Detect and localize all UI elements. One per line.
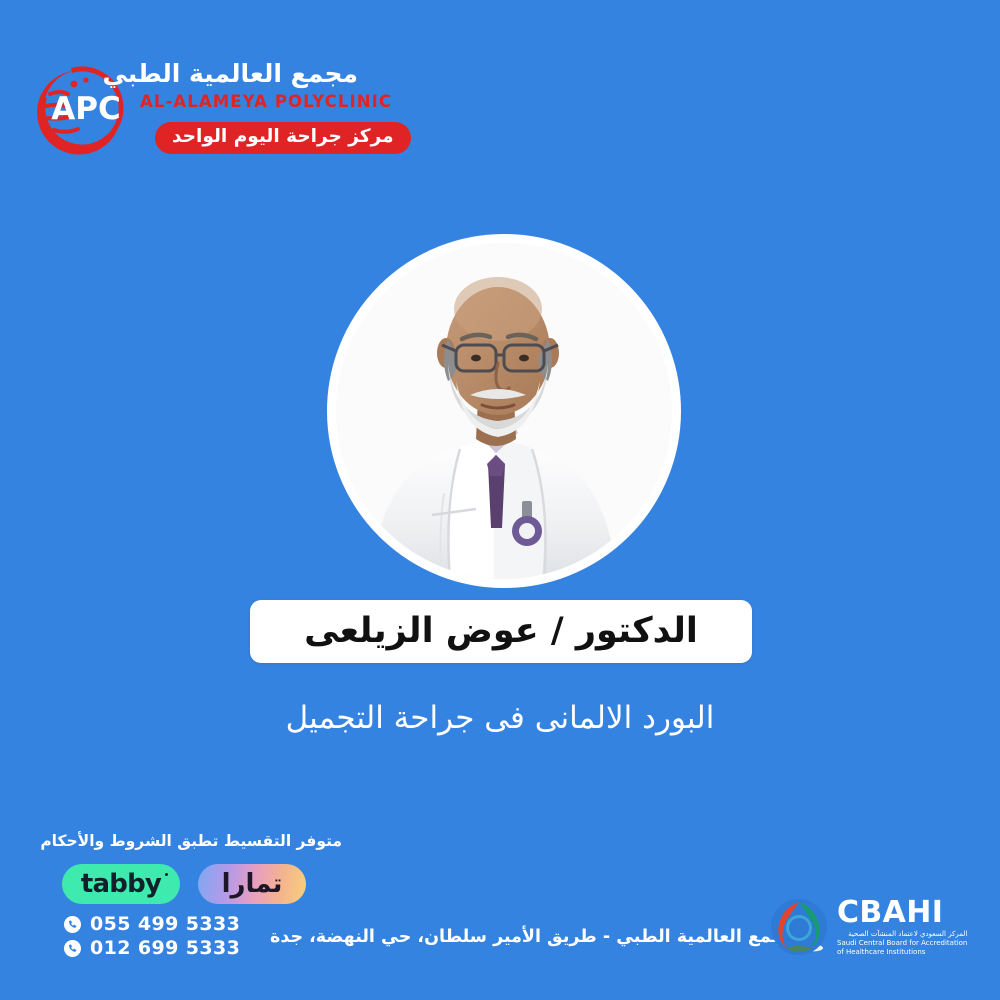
brand-text-block: مجمع العالمية الطبي AL-ALAMEYA POLYCLINI… bbox=[140, 60, 358, 112]
doctor-name-banner: الدكتور / عوض الزيلعى bbox=[250, 600, 752, 663]
tamara-label: تمارا bbox=[222, 871, 283, 897]
phone-row[interactable]: 055 499 5333 bbox=[64, 912, 240, 936]
clinic-name-arabic: مجمع العالمية الطبي bbox=[140, 60, 358, 89]
portrait-photo bbox=[336, 243, 672, 579]
tabby-logo[interactable]: tabby bbox=[62, 864, 180, 904]
phone-number: 055 499 5333 bbox=[90, 915, 240, 934]
poster-canvas: APC مجمع العالمية الطبي AL-ALAMEYA POLYC… bbox=[0, 0, 1000, 1000]
tabby-label: tabby bbox=[81, 871, 161, 897]
clinic-name-english: AL-ALAMEYA POLYCLINIC bbox=[140, 91, 358, 112]
address-block: مجمع العالمية الطبي - طريق الأمير سلطان،… bbox=[270, 924, 826, 952]
doctor-portrait bbox=[327, 234, 681, 588]
doctor-specialty: البورد الالمانى فى جراحة التجميل bbox=[0, 700, 1000, 737]
phone-list: 055 499 5333 012 699 5333 bbox=[64, 912, 240, 960]
brand-header: APC مجمع العالمية الطبي AL-ALAMEYA POLYC… bbox=[28, 52, 358, 167]
phone-icon bbox=[64, 940, 81, 957]
cbahi-accreditation: CBAHI المركز السعودي لاعتماد المنشآت الص… bbox=[770, 898, 967, 956]
payment-providers: tabby تمارا bbox=[62, 864, 306, 904]
cbahi-text-block: CBAHI المركز السعودي لاعتماد المنشآت الص… bbox=[837, 898, 967, 956]
phone-icon bbox=[64, 916, 81, 933]
phone-row[interactable]: 012 699 5333 bbox=[64, 936, 240, 960]
portrait-ring bbox=[327, 234, 681, 588]
one-day-surgery-badge: مركز جراحة اليوم الواحد bbox=[155, 122, 411, 154]
address-text: مجمع العالمية الطبي - طريق الأمير سلطان،… bbox=[270, 928, 795, 947]
cbahi-subtitle-english-line2: of Healthcare Institutions bbox=[837, 948, 967, 957]
tamara-logo[interactable]: تمارا bbox=[198, 864, 306, 904]
phone-number: 012 699 5333 bbox=[90, 939, 240, 958]
svg-text:APC: APC bbox=[51, 91, 120, 127]
cbahi-title: CBAHI bbox=[837, 898, 967, 928]
installment-note: متوفر التقسيط تطبق الشروط والأحكام bbox=[62, 832, 342, 850]
cbahi-subtitle-arabic: المركز السعودي لاعتماد المنشآت الصحية bbox=[837, 930, 967, 939]
cbahi-subtitle-english-line1: Saudi Central Board for Accreditation bbox=[837, 939, 967, 948]
doctor-name: الدكتور / عوض الزيلعى bbox=[304, 614, 698, 649]
cbahi-logo-icon bbox=[770, 898, 828, 956]
